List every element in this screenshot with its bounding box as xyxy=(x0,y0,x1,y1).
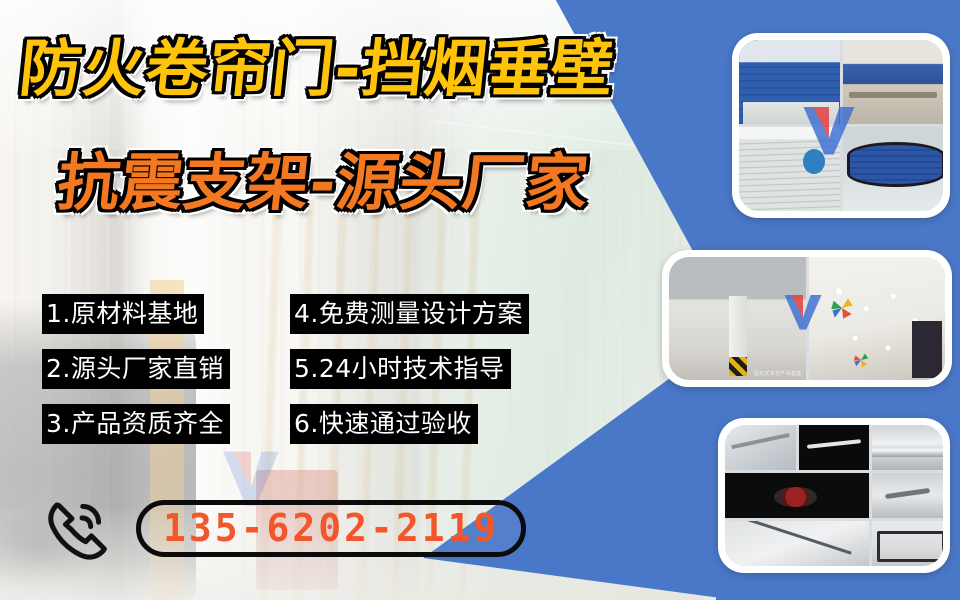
photo-ceiling-downlights-hall xyxy=(809,257,946,380)
contact-bar: 135-6202-2119 xyxy=(40,492,526,564)
headline-primary: 防火卷帘门-挡烟垂壁 xyxy=(17,38,617,100)
collage-grid xyxy=(725,425,943,566)
photo-caption: 固定式本也产吊基座 xyxy=(754,370,802,377)
phone-number-pill[interactable]: 135-6202-2119 xyxy=(136,500,526,557)
photo-blue-shutter-roll-drum xyxy=(843,127,944,211)
feature-cell: 2.源头厂家直销 xyxy=(42,349,290,389)
collage-grid: 固定式本也产吊基座 xyxy=(669,257,945,380)
headline-secondary: 抗震支架-源头厂家 xyxy=(55,152,592,214)
photo-ceiling-pipe-bracing xyxy=(725,425,796,470)
photo-framed-bracing-room xyxy=(872,521,943,566)
feature-cell: 4.免费测量设计方案 xyxy=(290,294,552,334)
feature-cell: 1.原材料基地 xyxy=(42,294,290,334)
feature-item-3: 3.产品资质齐全 xyxy=(42,404,230,444)
feature-item-5: 5.24小时技术指导 xyxy=(290,349,511,389)
phone-call-icon xyxy=(40,492,114,564)
feature-list: 1.原材料基地 4.免费测量设计方案 2.源头厂家直销 5.24小时技术指导 3… xyxy=(42,294,552,459)
collage-card-seismic-bracing[interactable] xyxy=(718,418,950,573)
feature-row: 3.产品资质齐全 6.快速通过验收 xyxy=(42,404,552,448)
feature-cell: 6.快速通过验收 xyxy=(290,404,552,444)
feature-row: 2.源头厂家直销 5.24小时技术指导 xyxy=(42,349,552,393)
pinwheel-decor-2-icon xyxy=(853,352,869,368)
photo-parking-garage-pillars: 固定式本也产吊基座 xyxy=(669,257,806,380)
feature-cell: 5.24小时技术指导 xyxy=(290,349,552,389)
collage-grid xyxy=(739,40,943,211)
phone-number: 135-6202-2119 xyxy=(163,509,499,547)
feature-item-4: 4.免费测量设计方案 xyxy=(290,294,529,334)
feature-row: 1.原材料基地 4.免费测量设计方案 xyxy=(42,294,552,338)
photo-blue-rolling-shutter-lobby xyxy=(739,40,840,124)
photo-bracing-detail-iso xyxy=(725,521,869,566)
photo-pipe-clamp-assembly xyxy=(872,425,943,470)
collage-card-fire-shutter[interactable] xyxy=(732,33,950,218)
photo-fan-mount-dark xyxy=(725,473,869,518)
feature-cell: 3.产品资质齐全 xyxy=(42,404,290,444)
photo-ceiling-fan-installed xyxy=(872,473,943,518)
pinwheel-decor-1-icon xyxy=(830,296,854,320)
photo-factory-production-line xyxy=(843,40,944,124)
collage-card-installation-site[interactable]: 固定式本也产吊基座 xyxy=(662,250,952,387)
feature-item-2: 2.源头厂家直销 xyxy=(42,349,230,389)
photo-dark-bracket-closeup xyxy=(799,425,870,470)
feature-item-1: 1.原材料基地 xyxy=(42,294,204,334)
advertisement-poster: 防火卷帘门-挡烟垂壁 抗震支架-源头厂家 1.原材料基地 4.免费测量设计方案 … xyxy=(0,0,960,600)
feature-item-6: 6.快速通过验收 xyxy=(290,404,478,444)
photo-steel-rolling-shutter xyxy=(739,127,840,211)
